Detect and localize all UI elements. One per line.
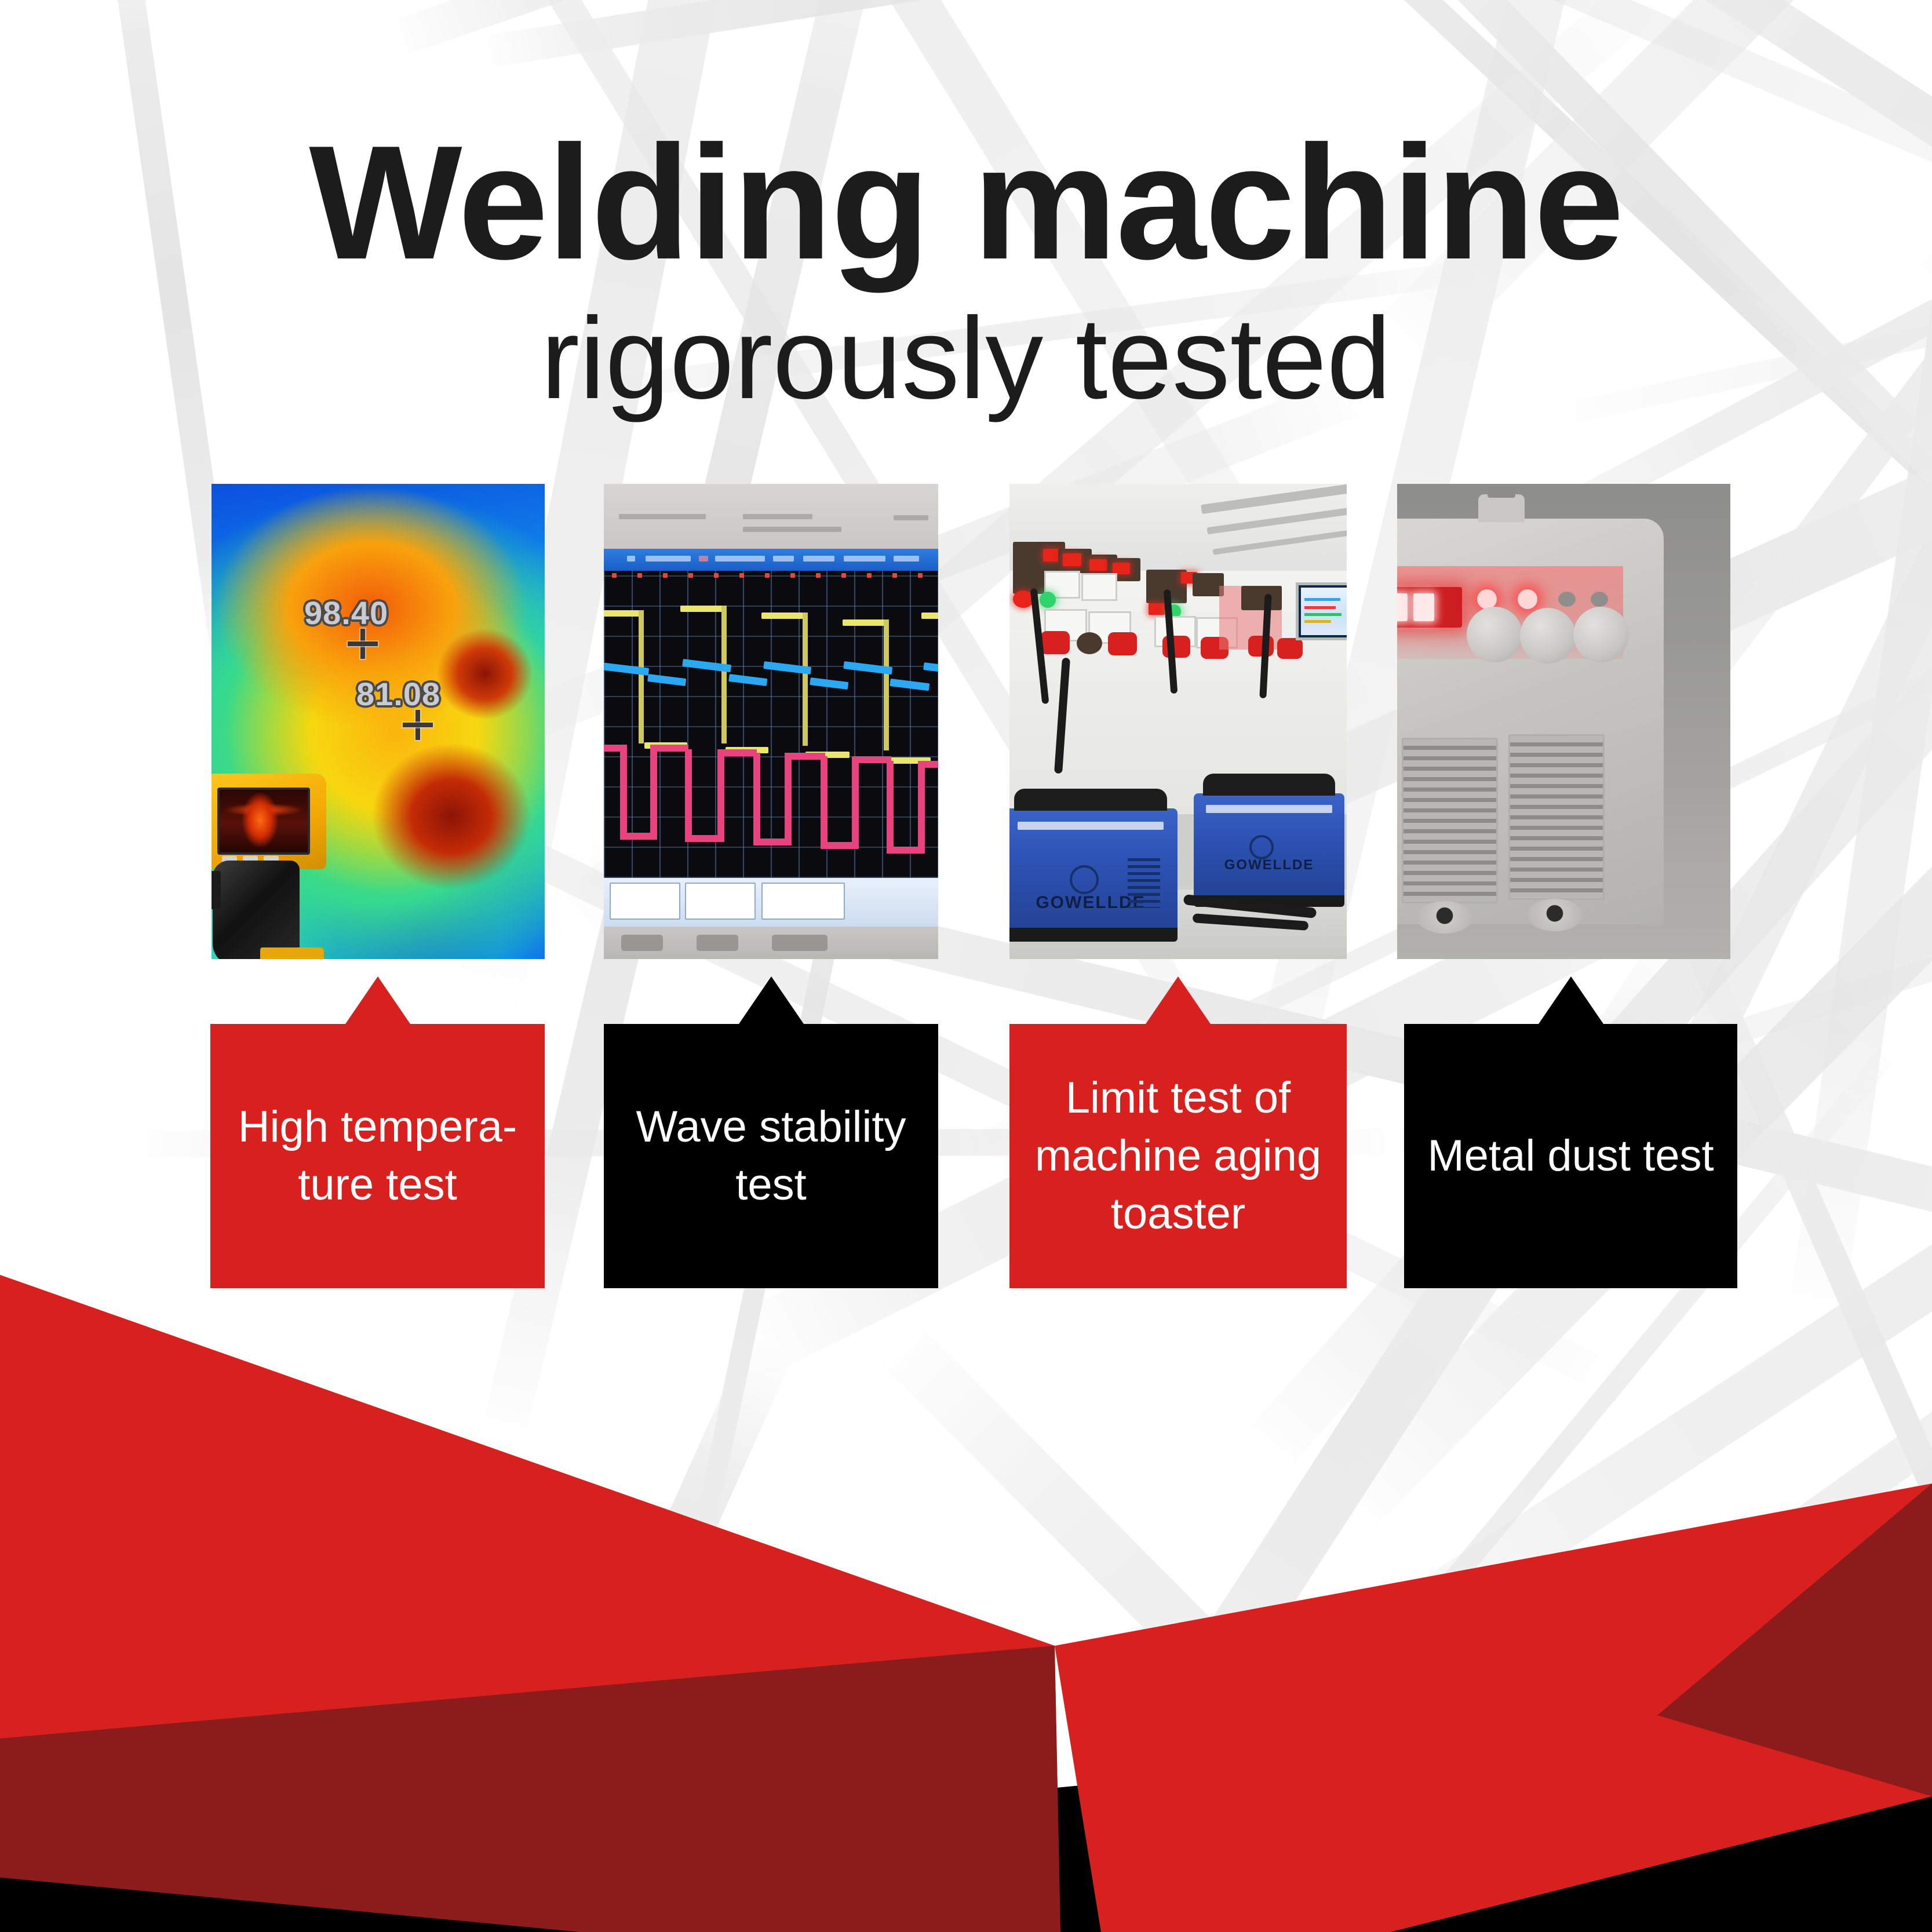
- monitor-screen: [1301, 588, 1347, 635]
- factory-test-lab-scene: GOWELLDE GOWELLDE: [1009, 484, 1347, 959]
- thermal-camera-device: [212, 774, 338, 959]
- callout-label-line3: toaster: [1111, 1189, 1245, 1238]
- scope-top-bezel: [604, 484, 938, 549]
- red-valve-knob: [1277, 638, 1303, 659]
- page-subtitle: rigorously tested: [0, 292, 1932, 425]
- waveform-pink: [620, 745, 627, 839]
- waveform-pink: [852, 756, 891, 763]
- machine-base: [1009, 928, 1178, 942]
- page-title: Welding machine: [0, 122, 1932, 284]
- control-panel: [1397, 566, 1623, 659]
- scope-menu-bar: [604, 549, 938, 571]
- callout-label: Wave stability test: [604, 1024, 938, 1288]
- callout-wave-stability-test[interactable]: Wave stability test: [604, 1024, 938, 1288]
- red-valve-knob: [1248, 636, 1274, 657]
- waveform-yellow-edge: [721, 606, 727, 743]
- waveform-yellow-edge: [639, 610, 644, 743]
- callout-arrow-icon: [1146, 976, 1211, 1024]
- waveform-pink: [650, 745, 688, 752]
- indicator-led: [1089, 559, 1107, 571]
- panel-port: [1591, 592, 1608, 607]
- callout-label: Limit test of machine aging toaster: [1009, 1024, 1347, 1288]
- waveform-pink: [685, 835, 720, 842]
- waveform-pink: [887, 761, 894, 852]
- machine-handle: [1478, 494, 1525, 522]
- waveform-yellow-edge: [884, 619, 889, 750]
- camera-grip: [213, 861, 300, 959]
- waveform-pink: [918, 761, 925, 854]
- callout-label-line2: test: [735, 1160, 807, 1209]
- photo-dust-test: [1397, 484, 1730, 959]
- waveform-pink: [785, 753, 792, 845]
- callout-label-line1: Limit test of: [1066, 1073, 1291, 1122]
- thermal-crosshair-1: [348, 629, 378, 659]
- waveform-pink: [685, 749, 692, 841]
- dust-covered-machine-scene: [1397, 484, 1730, 959]
- scope-tick-marks: [604, 573, 938, 582]
- machine-wheel-right: [1527, 899, 1583, 931]
- led-display: [1397, 587, 1462, 628]
- scope-waveform-grid: [604, 571, 938, 878]
- waveform-blue: [647, 674, 686, 686]
- waveform-yellow: [843, 619, 887, 626]
- camera-base: [260, 947, 324, 959]
- oscilloscope-device: [604, 484, 938, 959]
- brand-logo-icon: [1070, 865, 1099, 894]
- camera-screen: [217, 788, 310, 855]
- waveform-pink: [717, 749, 757, 756]
- brand-logo-icon: [1249, 835, 1274, 859]
- control-cabinet: [1241, 586, 1282, 610]
- callout-label-line2: machine aging: [1035, 1131, 1321, 1180]
- red-valve-knob: [1108, 632, 1137, 655]
- machine-vent-right: [1508, 734, 1605, 900]
- black-valve: [1077, 632, 1102, 654]
- scope-front-panel: [604, 927, 938, 959]
- wall-panel: [1081, 573, 1117, 601]
- waveform-pink: [821, 842, 856, 849]
- panel-port: [1558, 592, 1576, 607]
- machine-handle: [1203, 774, 1336, 796]
- indicator-led: [1149, 603, 1165, 615]
- camera-screen-thermal-image: [220, 790, 308, 852]
- indicator-led: [1113, 563, 1130, 574]
- waveform-pink: [852, 756, 859, 849]
- welding-machine-back: GOWELLDE: [1194, 793, 1344, 907]
- machine-brand-text: GOWELLDE: [1194, 857, 1344, 873]
- waveform-blue: [810, 677, 848, 690]
- photo-oscilloscope-test: [604, 484, 938, 959]
- waveform-pink: [620, 833, 654, 840]
- green-indicator-led: [1040, 592, 1056, 608]
- callout-arrow-icon: [739, 976, 804, 1024]
- machine-handle-bar: [1488, 490, 1515, 498]
- callout-label-line1: High tempera-: [238, 1102, 517, 1151]
- waveform-yellow-edge: [803, 613, 808, 746]
- waveform-pink: [650, 745, 657, 840]
- red-valve-knob: [1041, 631, 1070, 654]
- machine-label-strip: [1018, 822, 1164, 830]
- machine-body: [1397, 519, 1664, 924]
- waveform-pink: [918, 761, 938, 768]
- photo-aging-lab-test: GOWELLDE GOWELLDE: [1009, 484, 1347, 959]
- thermal-reading-2: 81.08: [356, 675, 440, 713]
- display-digit: [1413, 593, 1434, 621]
- welding-machine-front: GOWELLDE: [1009, 808, 1178, 942]
- waveform-yellow: [680, 606, 724, 612]
- camera-trigger: [212, 871, 221, 909]
- machine-vent-left: [1402, 738, 1498, 903]
- callout-high-temperature-test[interactable]: High tempera- ture test: [210, 1024, 545, 1288]
- callout-metal-dust-test[interactable]: Metal dust test: [1404, 1024, 1737, 1288]
- monitor-display: [1296, 582, 1347, 640]
- callout-limit-aging-test[interactable]: Limit test of machine aging toaster: [1009, 1024, 1347, 1288]
- indicator-led: [1063, 553, 1081, 566]
- callout-label-line1: Wave stability: [636, 1102, 906, 1151]
- waveform-blue: [923, 662, 938, 674]
- machine-vents: [1128, 858, 1160, 908]
- callout-label: High tempera- ture test: [210, 1024, 545, 1288]
- waveform-yellow: [761, 613, 805, 619]
- waveform-blue: [728, 674, 767, 686]
- scope-readout-bar: [604, 878, 938, 927]
- callout-label-line2: ture test: [298, 1160, 457, 1209]
- bottom-geometric-banner: [0, 1275, 1932, 1932]
- machine-label-strip: [1206, 805, 1332, 813]
- callout-arrow-icon: [1539, 976, 1603, 1024]
- waveform-pink: [887, 847, 923, 854]
- callout-arrow-icon: [345, 976, 410, 1024]
- control-knob: [1573, 607, 1629, 662]
- thermal-reading-1: 98.40: [304, 594, 388, 632]
- waveform-pink: [785, 753, 825, 760]
- indicator-led: [1518, 589, 1537, 609]
- waveform-pink: [821, 756, 828, 848]
- callout-label-line1: Metal dust test: [1427, 1127, 1714, 1185]
- waveform-pink: [717, 749, 724, 842]
- display-digit: [1397, 593, 1408, 621]
- waveform-yellow: [921, 613, 938, 619]
- waveform-pink: [753, 753, 760, 844]
- control-knob: [1520, 608, 1576, 664]
- banner-shapes: [0, 1275, 1932, 1932]
- photo-thermal-test: 98.40 81.08: [212, 484, 545, 959]
- indicator-led: [1477, 589, 1497, 609]
- title-block: Welding machine rigorously tested: [0, 122, 1932, 425]
- machine-wheel-left: [1417, 901, 1472, 934]
- waveform-yellow: [604, 610, 642, 617]
- waveform-blue: [890, 679, 929, 691]
- waveform-pink: [753, 839, 789, 845]
- thermal-crosshair-2: [403, 710, 433, 740]
- callout-label: Metal dust test: [1404, 1024, 1737, 1288]
- control-knob: [1467, 607, 1522, 662]
- machine-handle: [1014, 789, 1167, 811]
